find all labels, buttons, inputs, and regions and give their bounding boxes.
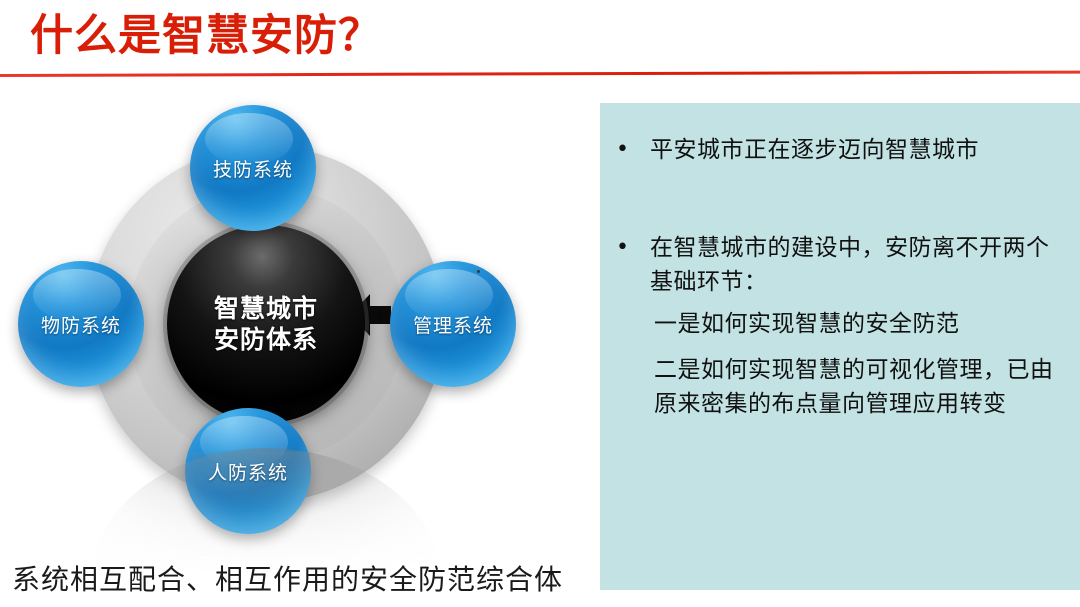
node-label: 技防系统 bbox=[213, 155, 293, 182]
diagram-caption: 系统相互配合、相互作用的安全防范综合体 bbox=[12, 558, 563, 598]
bullet-item: • 平安城市正在逐步迈向智慧城市 bbox=[612, 133, 1066, 167]
bullet-spacer bbox=[612, 173, 1066, 231]
node-technical-defense[interactable]: 技防系统 bbox=[190, 105, 316, 231]
core-node-label: 智慧城市 安防体系 bbox=[214, 293, 318, 356]
bullet-text: 在智慧城市的建设中，安防离不开两个基础环节： bbox=[650, 231, 1066, 299]
node-physical-defense[interactable]: 物防系统 bbox=[18, 261, 144, 387]
stray-dot-artifact bbox=[477, 270, 480, 273]
core-node-smart-city-security[interactable]: 智慧城市 安防体系 bbox=[167, 225, 365, 423]
page-title: 什么是智慧安防？ bbox=[30, 12, 382, 61]
sub-line-two: 二是如何实现智慧的可视化管理，已由原来密集的布点量向管理应用转变 bbox=[612, 353, 1066, 421]
text-panel: • 平安城市正在逐步迈向智慧城市 • 在智慧城市的建设中，安防离不开两个基础环节… bbox=[600, 103, 1080, 590]
node-label: 物防系统 bbox=[41, 311, 121, 338]
node-label: 管理系统 bbox=[413, 311, 493, 338]
node-label: 人防系统 bbox=[208, 458, 288, 485]
bullet-item: • 在智慧城市的建设中，安防离不开两个基础环节： bbox=[612, 231, 1066, 299]
slide-canvas: 什么是智慧安防？ 智慧城市 安防体系 bbox=[0, 0, 1080, 607]
bullet-dot-icon: • bbox=[612, 133, 650, 167]
title-divider-rule bbox=[0, 71, 1080, 77]
bullet-text: 平安城市正在逐步迈向智慧城市 bbox=[650, 133, 1066, 167]
bullet-dot-icon: • bbox=[612, 231, 650, 265]
sub-line-one: 一是如何实现智慧的安全防范 bbox=[612, 307, 1066, 341]
node-management-system[interactable]: 管理系统 bbox=[390, 261, 516, 387]
